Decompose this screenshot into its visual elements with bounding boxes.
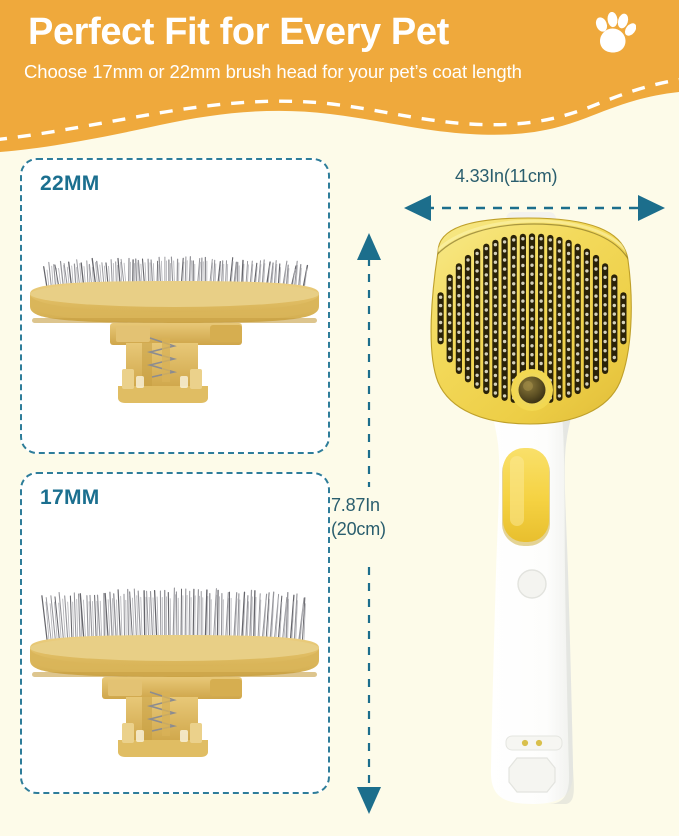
release-button-icon	[515, 373, 549, 407]
header-banner: Perfect Fit for Every Pet Choose 17mm or…	[0, 0, 679, 152]
self-cleaning-button	[502, 448, 550, 546]
charging-contacts-icon	[506, 736, 562, 750]
product-brush-illustration	[398, 212, 668, 822]
brush-head-17mm-icon	[22, 542, 328, 774]
page-title: Perfect Fit for Every Pet	[28, 13, 449, 53]
brush-head-card-17mm: 17MM	[20, 472, 330, 794]
brush-head-top-view	[431, 218, 634, 424]
infographic-root: Perfect Fit for Every Pet Choose 17mm or…	[0, 0, 679, 836]
header-subtitle: Choose 17mm or 22mm brush head for your …	[24, 60, 524, 84]
brush-head-card-22mm: 22MM	[20, 158, 330, 454]
paw-print-icon	[592, 12, 636, 54]
height-dimension-label: 7.87In (20cm)	[331, 494, 386, 542]
width-dimension-label: 4.33In(11cm)	[455, 166, 557, 187]
brand-emboss-icon	[518, 570, 546, 598]
card-label-17mm: 17MM	[40, 486, 100, 510]
card-label-22mm: 22MM	[40, 172, 100, 196]
base-cap-icon	[509, 758, 555, 792]
brush-head-22mm-icon	[22, 226, 328, 436]
height-dimension-line1: 7.87In	[331, 494, 386, 518]
height-dimension-line2: (20cm)	[331, 518, 386, 542]
